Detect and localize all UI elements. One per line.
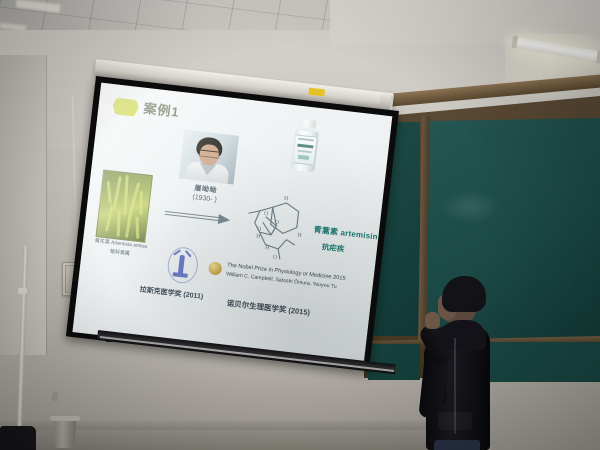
svg-text:H: H: [256, 234, 262, 241]
lasker-award-logo-icon: [162, 243, 202, 287]
waste-bin-rim: [50, 416, 80, 421]
process-arrow-icon: [164, 208, 233, 226]
person-hair: [442, 276, 486, 312]
svg-text:H: H: [284, 196, 290, 203]
svg-text:O: O: [257, 226, 262, 232]
nobel-award-caption: 诺贝尔生理医学奖 (2015): [226, 298, 310, 319]
svg-text:H: H: [297, 233, 303, 240]
slide-badge-icon: [112, 97, 140, 117]
classroom-scene: 案例1: [0, 0, 600, 450]
compound-sublabel: 抗疟疾: [321, 241, 345, 255]
lasker-award-caption: 拉斯克医学奖 (2011): [139, 284, 204, 301]
slide-title: 案例1: [143, 98, 181, 121]
artemisia-plant-image: [95, 169, 152, 242]
svg-text:O: O: [274, 220, 279, 226]
student-standing: [420, 272, 540, 450]
waste-bin: [52, 418, 78, 448]
nobel-medal-icon: [208, 261, 222, 275]
person-hand: [425, 312, 440, 329]
svg-text:O: O: [272, 255, 277, 261]
housing-label: [308, 88, 325, 97]
pipe-bracket: [18, 288, 27, 294]
screen-surface: 案例1: [72, 83, 392, 366]
svg-text:O: O: [264, 211, 269, 217]
wall-seam: [46, 55, 47, 355]
bottle-cap: [300, 119, 317, 129]
svg-text:H: H: [265, 245, 271, 252]
artemisinin-molecule-diagram: OO OO HH HH: [234, 188, 316, 266]
person-jeans: [434, 440, 480, 450]
floor-object-dark: [0, 426, 36, 450]
chalk-smudge: [440, 190, 500, 224]
scientist-portrait-image: [179, 130, 239, 185]
projection-screen: 案例1: [66, 76, 399, 371]
medicine-bottle-image: [288, 118, 322, 174]
person-pocket: [438, 412, 472, 430]
person-hood: [436, 320, 486, 350]
presentation-slide: 案例1: [72, 83, 392, 366]
nobel-prize-block: The Nobel Prize in Physiology or Medicin…: [207, 259, 359, 298]
